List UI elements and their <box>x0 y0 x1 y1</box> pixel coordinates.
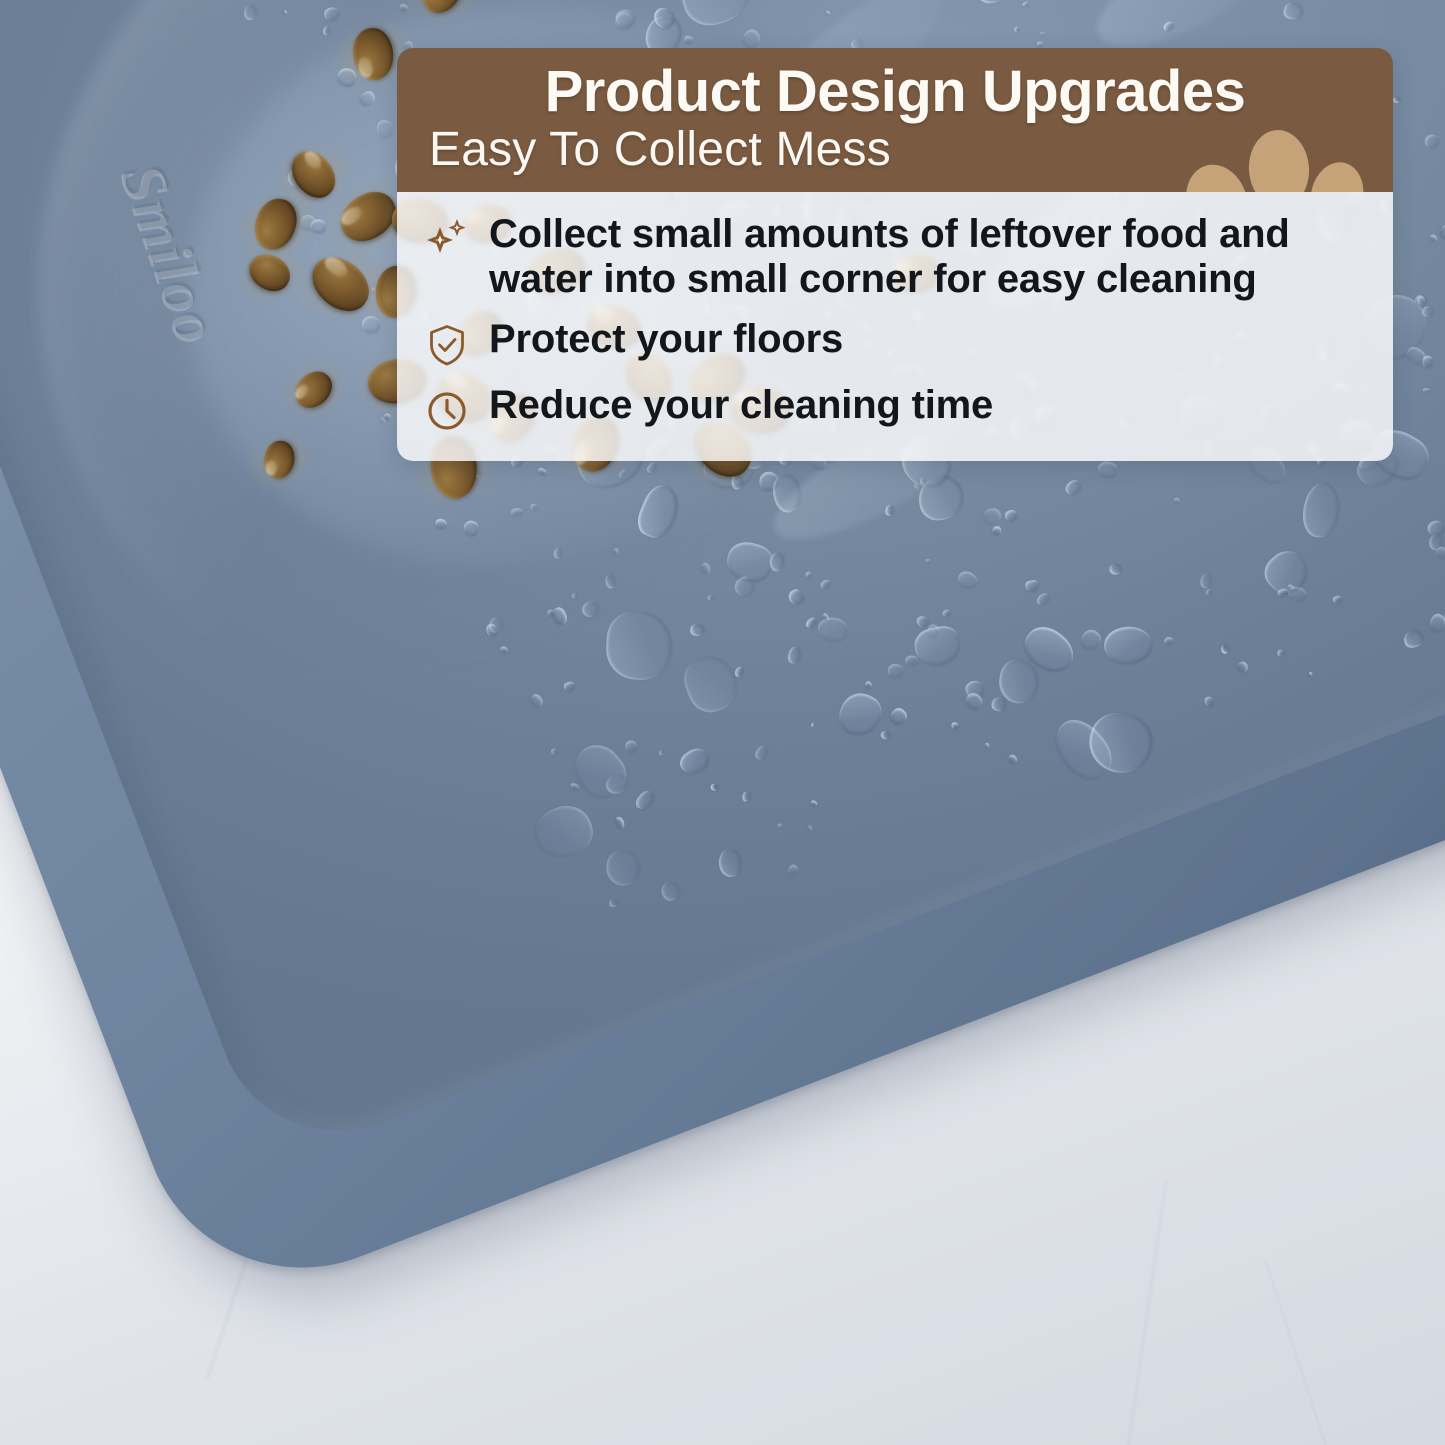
card-subtitle: Easy To Collect Mess <box>423 125 1367 175</box>
water-droplet <box>1173 497 1182 506</box>
water-droplet <box>1040 32 1045 35</box>
water-droplet <box>1162 20 1176 33</box>
water-droplet <box>1276 648 1286 658</box>
sparkle-icon <box>423 216 471 264</box>
water-droplet <box>990 695 1008 713</box>
list-item-label: Collect small amounts of leftover food a… <box>489 212 1367 303</box>
water-droplet <box>1078 626 1105 653</box>
water-droplet <box>659 750 664 756</box>
water-droplet <box>1017 618 1081 681</box>
water-droplet <box>1404 344 1428 367</box>
list-item: Protect your floors <box>423 317 1367 369</box>
water-droplet <box>888 664 904 678</box>
water-droplet <box>625 740 638 753</box>
water-droplet <box>1045 710 1121 788</box>
feature-list: Collect small amounts of leftover food a… <box>423 212 1367 435</box>
water-droplet <box>912 624 963 669</box>
water-droplet <box>1205 588 1213 596</box>
water-droplet <box>956 570 979 590</box>
water-droplet <box>1013 26 1020 33</box>
water-droplet <box>1437 220 1445 242</box>
water-droplet <box>676 744 713 779</box>
water-droplet <box>1004 509 1018 522</box>
water-droplet <box>864 680 873 689</box>
water-droplet <box>741 791 751 803</box>
water-droplet <box>807 825 813 831</box>
water-droplet <box>1022 1 1029 7</box>
clock-icon <box>423 387 471 435</box>
water-droplet <box>905 655 919 665</box>
water-droplet <box>834 687 887 741</box>
water-droplet <box>1428 533 1444 551</box>
water-droplet <box>614 816 626 830</box>
water-droplet <box>633 788 656 812</box>
list-item: Reduce your cleaning time <box>423 383 1367 435</box>
water-droplet <box>926 559 931 563</box>
water-droplet <box>963 678 987 702</box>
water-droplet <box>1332 595 1343 605</box>
water-droplet <box>1429 233 1439 243</box>
water-droplet <box>661 881 680 902</box>
water-droplet <box>1258 543 1316 601</box>
water-droplet <box>1007 753 1018 765</box>
water-droplet <box>1236 660 1249 674</box>
water-droplet <box>811 722 816 727</box>
water-droplet <box>528 798 600 866</box>
water-droplet <box>1437 578 1445 649</box>
shield-check-icon <box>423 321 471 369</box>
info-card: Product Design Upgrades Easy To Collect … <box>397 48 1393 461</box>
water-droplet <box>569 782 580 791</box>
water-droplet <box>1413 294 1426 307</box>
water-droplet <box>1203 695 1215 707</box>
water-droplet <box>565 736 635 806</box>
water-droplet <box>609 898 618 907</box>
water-droplet <box>1423 132 1442 150</box>
water-droplet <box>1287 585 1308 602</box>
water-droplet <box>980 505 1004 528</box>
water-droplet <box>941 608 951 618</box>
water-droplet <box>1037 41 1043 47</box>
water-droplet <box>1034 591 1051 607</box>
card-header: Product Design Upgrades Easy To Collect … <box>397 48 1393 192</box>
water-droplet <box>963 690 985 712</box>
water-droplet <box>1103 625 1154 666</box>
water-droplet <box>1434 545 1445 561</box>
water-droplet <box>1422 356 1432 368</box>
water-droplet <box>1423 388 1430 392</box>
product-marketing-image: Smiloo Product Design Upgrades Easy To C… <box>0 0 1445 1445</box>
water-droplet <box>787 863 800 877</box>
water-droplet <box>605 773 628 794</box>
water-droplet <box>550 747 558 755</box>
water-droplet <box>710 783 719 792</box>
water-droplet <box>1083 707 1157 779</box>
water-droplet <box>1299 480 1342 539</box>
water-droplet <box>1220 644 1230 655</box>
water-droplet <box>880 730 891 740</box>
water-droplet <box>1164 637 1174 645</box>
water-droplet <box>1063 478 1084 498</box>
water-droplet <box>1308 671 1313 676</box>
water-droplet <box>1426 611 1445 634</box>
water-droplet <box>1286 583 1295 592</box>
water-droplet <box>1282 1 1304 21</box>
list-item: Collect small amounts of leftover food a… <box>423 212 1367 303</box>
list-item-label: Reduce your cleaning time <box>489 383 993 428</box>
water-droplet <box>1277 588 1289 598</box>
card-title: Product Design Upgrades <box>423 62 1367 121</box>
water-droplet <box>718 848 742 878</box>
water-droplet <box>1109 563 1122 575</box>
water-droplet <box>991 524 1004 537</box>
water-droplet <box>975 0 1008 4</box>
list-item-label: Protect your floors <box>489 317 843 362</box>
water-droplet <box>984 742 990 748</box>
water-droplet <box>778 823 783 828</box>
water-droplet <box>887 705 910 728</box>
water-droplet <box>1415 294 1428 307</box>
water-droplet <box>1199 573 1213 590</box>
water-droplet <box>753 744 771 762</box>
water-droplet <box>996 657 1041 706</box>
water-droplet <box>951 722 959 729</box>
water-droplet <box>915 614 930 630</box>
water-droplet <box>1096 460 1118 480</box>
water-droplet <box>1024 579 1039 592</box>
water-droplet <box>1425 518 1445 539</box>
water-droplet <box>925 623 941 640</box>
water-droplet <box>605 850 641 887</box>
water-droplet <box>1402 628 1425 650</box>
water-droplet <box>810 799 818 807</box>
water-droplet <box>1393 97 1401 104</box>
card-body: Collect small amounts of leftover food a… <box>397 192 1393 461</box>
water-droplet <box>1420 304 1435 319</box>
